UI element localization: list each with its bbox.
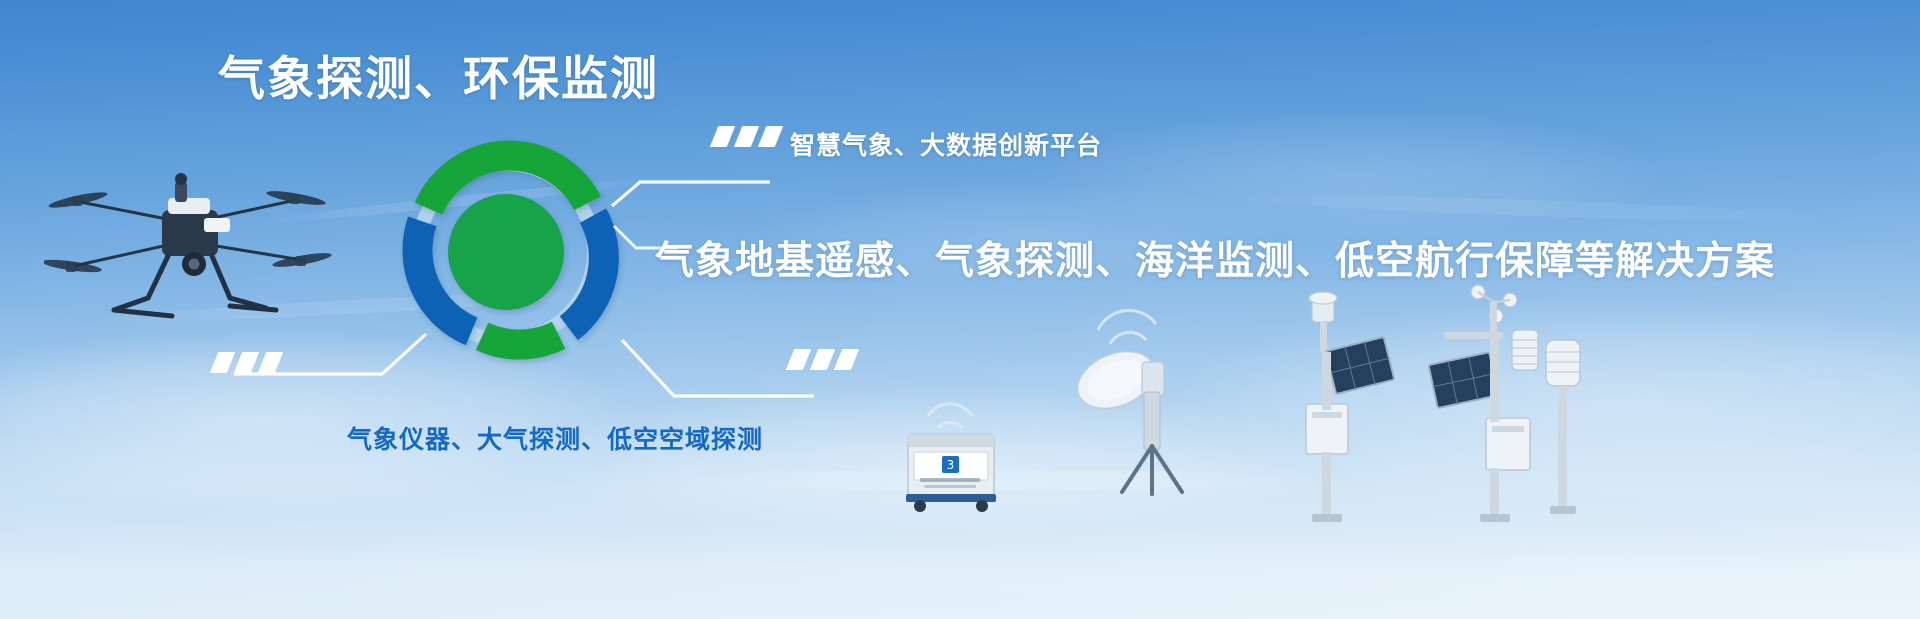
slash-marks-bottom-left bbox=[214, 352, 279, 373]
slash-3 bbox=[758, 126, 783, 147]
page-title: 气象探测、环保监测 bbox=[218, 50, 659, 109]
drone-uav bbox=[44, 148, 334, 348]
slash-3 bbox=[258, 352, 283, 373]
solar-weather-station-left bbox=[1276, 288, 1396, 523]
slash-2 bbox=[734, 126, 759, 147]
slash-marks-top bbox=[714, 126, 779, 147]
slash-1 bbox=[786, 349, 811, 370]
cloud-streak-3 bbox=[1220, 189, 1840, 227]
slash-2 bbox=[810, 349, 835, 370]
callout-label-top: 智慧气象、大数据创新平台 bbox=[790, 126, 1102, 162]
donut-infographic bbox=[386, 132, 626, 372]
svg-text:3: 3 bbox=[947, 458, 955, 472]
satellite-dish-tripod bbox=[1060, 300, 1200, 500]
slash-3 bbox=[834, 349, 859, 370]
slash-2 bbox=[234, 352, 259, 373]
connector-line-bottom-right bbox=[618, 336, 828, 420]
slash-marks-bottom-right bbox=[790, 349, 855, 370]
mobile-lidar-unit: 3 bbox=[890, 382, 1010, 512]
slash-1 bbox=[710, 126, 735, 147]
cloud-haze-4 bbox=[1040, 110, 1660, 240]
solar-weather-station-right bbox=[1404, 272, 1544, 522]
horizon-haze-band-2 bbox=[0, 520, 1920, 619]
banner-root: 气象探测、环保监测 bbox=[0, 0, 1920, 619]
callout-label-bottom: 气象仪器、大气探测、低空空域探测 bbox=[347, 420, 763, 456]
callout-label-main: 气象地基遥感、气象探测、海洋监测、低空航行保障等解决方案 bbox=[655, 230, 1775, 286]
connector-line-top bbox=[610, 140, 790, 220]
slash-1 bbox=[210, 352, 235, 373]
far-right-sensor-mast bbox=[1524, 330, 1604, 520]
